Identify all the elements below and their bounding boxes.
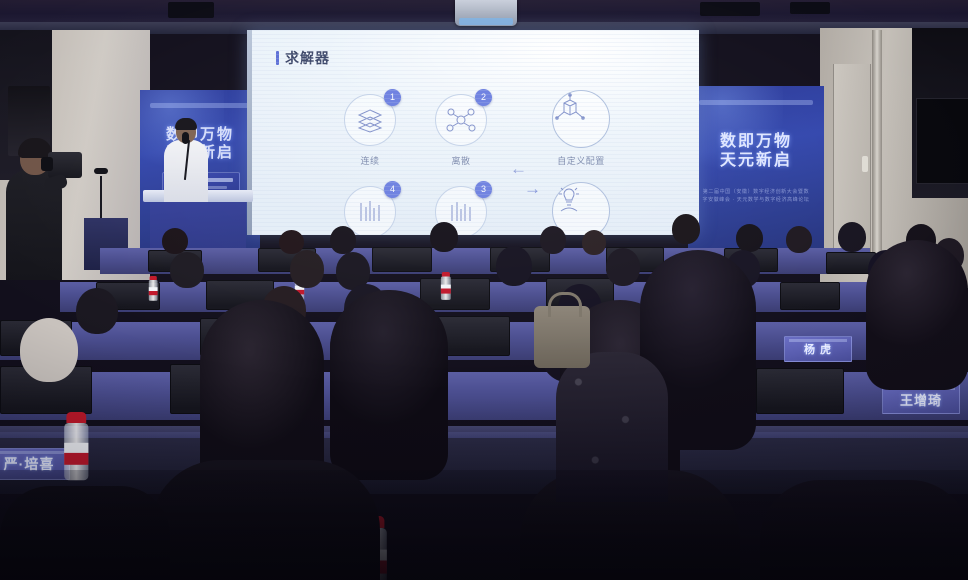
audience-head-r3-1 <box>76 288 118 334</box>
monitor-r4-4 <box>756 368 844 414</box>
audience-body-front-4 <box>0 486 170 580</box>
audience-head-r4-1 <box>20 318 78 382</box>
slide-title-bullet-icon <box>276 51 279 65</box>
audience-head-f1 <box>162 228 188 254</box>
audience-head-r2-5 <box>606 248 640 286</box>
ceiling-projector <box>455 0 517 26</box>
audience-head-front-2 <box>330 290 448 480</box>
nameplate-top-strip <box>789 339 847 342</box>
idea-bulb-icon <box>553 202 585 219</box>
slide-arrow-pair: ← → <box>510 160 554 200</box>
slide-title: 求解器 <box>276 48 330 68</box>
banner-left-top-strip <box>150 103 251 108</box>
audience-head-r2-2 <box>290 250 324 288</box>
ceiling-vent-right <box>790 2 830 14</box>
projection-screen: 求解器 1 连续 <box>247 30 699 235</box>
bottle-label <box>149 287 158 295</box>
nameplate-left-edge: 严·培喜 <box>0 448 70 480</box>
audience-patterned-top <box>556 352 668 502</box>
monitor-far-3 <box>372 247 432 272</box>
wall-display-right <box>916 98 968 184</box>
bottle-label <box>64 443 88 465</box>
cube-axes-icon <box>553 112 587 129</box>
slide-side-node-custom-config <box>552 90 610 148</box>
audience-head-front-5 <box>866 240 968 390</box>
audience-body-front-1 <box>150 460 380 580</box>
slide-node-1: 1 <box>344 94 396 146</box>
audience-body-front-3 <box>760 480 968 580</box>
slide-node-1-badge: 1 <box>384 89 401 106</box>
handbag-strap <box>548 292 582 317</box>
banner-right-headline-line1: 数即万物 <box>688 132 824 151</box>
nameplate-right-mid: 杨 虎 <box>784 336 852 362</box>
audience-head-f3 <box>330 226 356 254</box>
banner-right-subtext: 第二届中国（安徽）数字经济创新大会暨数字安徽峰会 · 天元数学与数字经济高峰论坛 <box>702 188 811 204</box>
arrow-right-icon: → <box>524 180 541 197</box>
slide-title-text: 求解器 <box>285 48 330 68</box>
ceiling-vent-left <box>168 2 214 18</box>
bottle-cap <box>66 412 86 423</box>
microphone-head <box>182 132 189 144</box>
slide-node-2-badge: 2 <box>475 89 492 106</box>
banner-right-headline-line2: 天元新启 <box>688 151 824 170</box>
slide-node-4-badge: 4 <box>384 181 401 198</box>
slide-side-node-idea <box>552 182 610 235</box>
door-handle[interactable] <box>862 156 868 172</box>
audience-head-r2-4 <box>496 246 532 286</box>
nameplate-right-front-text: 王增琦 <box>900 390 942 409</box>
table-front-surface <box>0 426 968 438</box>
slide-node-grid: 1 连续 2 离散 <box>330 86 640 235</box>
monitor-r2-3 <box>420 278 490 310</box>
video-camera <box>48 152 82 178</box>
slide-node-4: 4 <box>344 186 396 235</box>
audience-head-f10 <box>838 222 866 252</box>
slide-node-1-label: 连续 <box>330 154 410 167</box>
nameplate-right-mid-text: 杨 虎 <box>804 341 832 357</box>
banner-right-top-strip <box>699 100 813 105</box>
audience-head-f5 <box>540 226 566 254</box>
banner-right-headline: 数即万物 天元新启 <box>688 132 824 170</box>
floor-mic-head <box>94 168 108 174</box>
floor-mic-stand <box>100 176 102 224</box>
audience-head-f6 <box>582 230 606 255</box>
presenter-hair <box>175 118 197 130</box>
ceiling-vent-mid <box>700 2 760 16</box>
audience-head-f7 <box>672 214 700 244</box>
monitor-r2-6 <box>780 282 840 310</box>
nameplate-left-edge-text: 严·培喜 <box>4 454 55 474</box>
conference-hall-scene: 数即万物 天元新启 天元数学与数字经济高峰论坛 数即万物 天元新启 第二届中国（… <box>0 0 968 580</box>
audience-head-f9 <box>786 226 812 253</box>
slide-node-3-badge: 3 <box>475 181 492 198</box>
slide-node-2: 2 <box>435 94 487 146</box>
videographer-hair <box>18 138 52 158</box>
nameplate-top-strip <box>0 451 65 454</box>
bottle-label <box>441 285 451 294</box>
slide-node-2-label: 离散 <box>421 154 501 167</box>
arrow-left-icon: ← <box>510 160 527 177</box>
audience-head-f8 <box>736 224 763 252</box>
audience-head-r2-1 <box>170 252 204 288</box>
slide-content: 求解器 1 连续 <box>252 30 699 235</box>
pillar-right <box>872 30 882 260</box>
audience-head-f4 <box>430 222 458 252</box>
